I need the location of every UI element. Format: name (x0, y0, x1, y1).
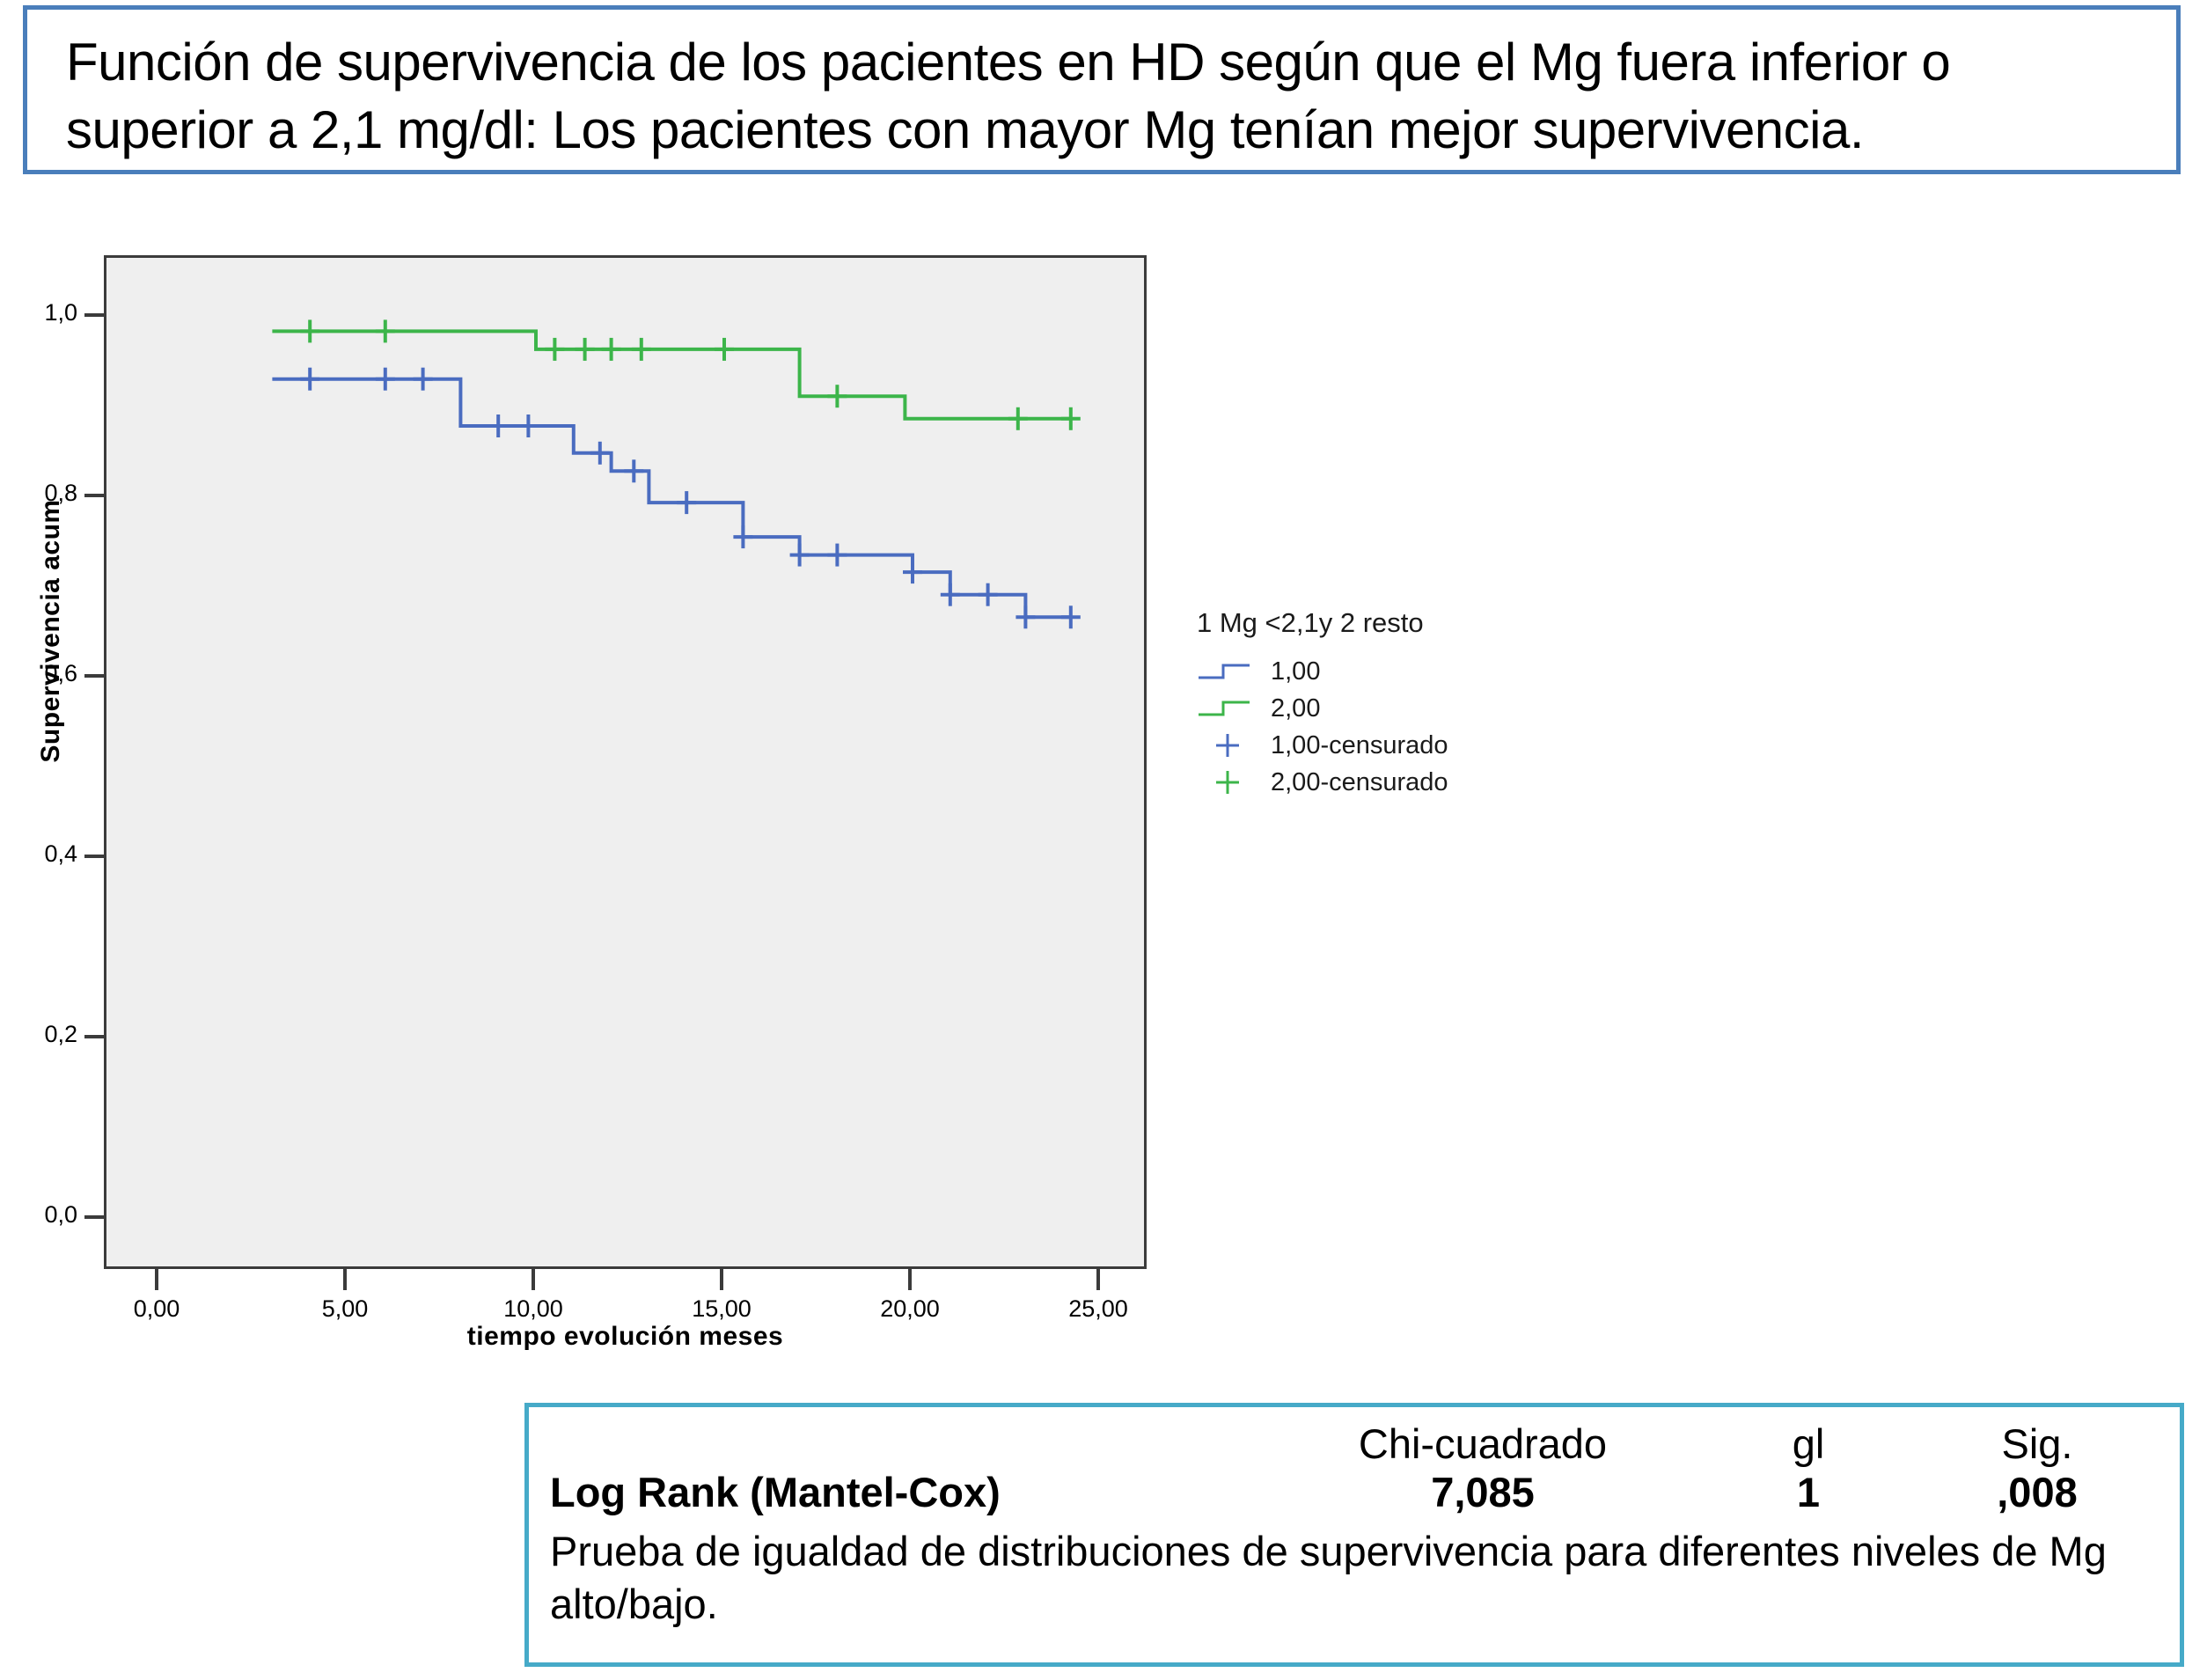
censored-marker (903, 561, 922, 583)
x-tick-mark (343, 1269, 347, 1290)
y-tick-mark (84, 674, 104, 678)
censored-marker (677, 491, 696, 514)
censored-marker (545, 338, 564, 361)
x-tick-mark (532, 1269, 535, 1290)
censored-marker (576, 338, 595, 361)
stats-row-label: Log Rank (Mantel-Cox) (550, 1468, 1272, 1516)
legend-item-3[interactable]: 2,00-censurado (1197, 764, 1566, 801)
y-tick-label: 1,0 (0, 299, 77, 326)
y-tick-label: 0,0 (0, 1201, 77, 1229)
censored-marker (488, 414, 508, 437)
y-tick-mark (84, 313, 104, 317)
survival-curves (106, 258, 1144, 1266)
y-tick-label: 0,4 (0, 840, 77, 868)
x-tick-mark (1096, 1269, 1100, 1290)
x-tick-mark (720, 1269, 723, 1290)
legend-item-2[interactable]: 1,00-censurado (1197, 727, 1566, 764)
x-tick-label: 15,00 (660, 1295, 783, 1323)
stats-row-gl: 1 (1694, 1468, 1923, 1516)
stats-header-sig: Sig. (1923, 1420, 2152, 1468)
stats-header-gl: gl (1694, 1420, 1923, 1468)
stats-table: Chi-cuadrado gl Sig. Log Rank (Mantel-Co… (550, 1420, 2160, 1516)
censored-marker (414, 368, 433, 391)
x-tick-label: 10,00 (472, 1295, 595, 1323)
y-tick-mark (84, 855, 104, 858)
censored-marker (979, 583, 998, 606)
legend-plus-icon (1197, 767, 1265, 797)
x-tick-mark (155, 1269, 158, 1290)
censored-marker (1016, 605, 1035, 628)
chart-legend: 1 Mg <2,1y 2 resto 1,002,001,00-censurad… (1197, 607, 1566, 801)
log-rank-stats-box: Chi-cuadrado gl Sig. Log Rank (Mantel-Co… (524, 1403, 2184, 1667)
x-tick-label: 5,00 (283, 1295, 407, 1323)
x-tick-label: 20,00 (848, 1295, 972, 1323)
legend-item-0[interactable]: 1,00 (1197, 653, 1566, 690)
series-line-200 (272, 331, 1070, 418)
series-line-100 (272, 379, 1070, 618)
censored-marker (1061, 605, 1081, 628)
censored-marker (300, 319, 319, 342)
title-callout-box: Función de supervivencia de los paciente… (23, 5, 2181, 174)
survival-chart: Supervivencia acum tiempo evolución mese… (0, 176, 1250, 1390)
y-tick-mark (84, 1215, 104, 1219)
x-tick-label: 25,00 (1037, 1295, 1160, 1323)
legend-item-label: 2,00-censurado (1271, 768, 1448, 797)
censored-marker (790, 544, 810, 567)
stats-note: Prueba de igualdad de distribuciones de … (550, 1525, 2143, 1631)
censored-marker (1061, 407, 1081, 430)
censored-marker (376, 368, 395, 391)
censored-marker (590, 442, 610, 465)
stats-row-sig: ,008 (1923, 1468, 2152, 1516)
y-tick-label: 0,8 (0, 480, 77, 507)
y-tick-mark (84, 1035, 104, 1038)
censored-marker (602, 338, 621, 361)
legend-item-label: 2,00 (1271, 694, 1320, 723)
x-axis-title: tiempo evolución meses (104, 1322, 1147, 1352)
stats-data-row: Log Rank (Mantel-Cox) 7,085 1 ,008 (550, 1468, 2160, 1516)
y-tick-label: 0,2 (0, 1021, 77, 1048)
censored-marker (827, 385, 847, 407)
censored-marker (624, 459, 643, 482)
legend-step-line-icon (1197, 657, 1265, 686)
censored-marker (300, 368, 319, 391)
x-tick-mark (908, 1269, 912, 1290)
x-tick-label: 0,00 (95, 1295, 218, 1323)
legend-plus-icon (1197, 730, 1265, 760)
legend-step-line-icon (1197, 693, 1265, 723)
censored-marker (1008, 407, 1028, 430)
censored-marker (733, 525, 752, 548)
plot-area (104, 255, 1147, 1269)
legend-item-1[interactable]: 2,00 (1197, 690, 1566, 727)
censored-marker (715, 338, 734, 361)
stats-header-row: Chi-cuadrado gl Sig. (550, 1420, 2160, 1468)
page-title: Función de supervivencia de los paciente… (66, 29, 2143, 165)
legend-item-label: 1,00 (1271, 657, 1320, 686)
legend-title: 1 Mg <2,1y 2 resto (1197, 607, 1566, 639)
censored-marker (376, 319, 395, 342)
censored-marker (827, 544, 847, 567)
y-tick-label: 0,6 (0, 660, 77, 687)
censored-marker (632, 338, 651, 361)
stats-header-chi: Chi-cuadrado (1272, 1420, 1694, 1468)
y-tick-mark (84, 494, 104, 497)
legend-item-label: 1,00-censurado (1271, 731, 1448, 760)
censored-marker (941, 583, 960, 606)
censored-marker (518, 414, 538, 437)
stats-row-chi: 7,085 (1272, 1468, 1694, 1516)
